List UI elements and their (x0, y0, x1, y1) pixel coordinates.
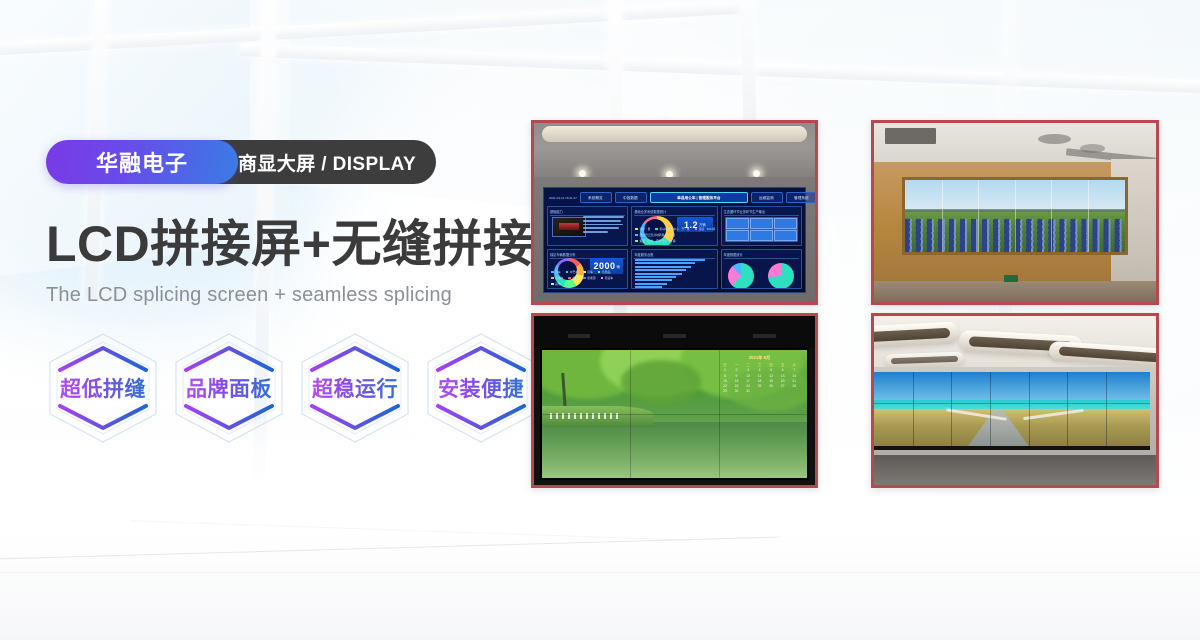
calendar-day: 21 (789, 379, 800, 383)
legend-item: 机动车服务中心 · 开 · 量 (655, 227, 689, 231)
bezel-seam (942, 180, 943, 253)
pie-chart (728, 263, 754, 289)
weekday: 三 (754, 363, 765, 367)
dashboard-panel-distribution: 辖区车辆数据分布 2000 辆 客车 中巴车 货车 危险品 专用车 (547, 249, 628, 289)
bar-chart (635, 259, 713, 286)
feature-label: 超低拼缝 (60, 373, 146, 403)
calendar-day: 3 (743, 368, 754, 372)
ceiling-vent (885, 128, 936, 144)
legend-item: 新增 · 量 (635, 227, 650, 231)
bezel-seam (913, 372, 914, 446)
calendar-grid: 日 一 二 三 四 五 六 1 2 3 4 5 6 7 8 (720, 363, 800, 394)
video-wall-screen: 2021年 8月 日 一 二 三 四 五 六 1 2 3 4 5 (540, 348, 810, 480)
weekday: 二 (743, 363, 754, 367)
legend-item: 挂车 (568, 276, 578, 280)
panel-title: 生态圈环节业务环节生产输出 (724, 209, 799, 216)
banner-stage: 商显大屏 / DISPLAY 华融电子 LCD拼接屏+无缝拼接 The LCD … (0, 0, 1200, 640)
bezel-seam (1067, 372, 1068, 446)
legend-item: 报废 · 回收 · 转移登记 110 辆 (635, 239, 675, 243)
bezel-seam (1051, 180, 1052, 253)
panel-legend: 客车 中巴车 货车 危险品 专用车 挂车 新能源 轿运车 其他 (551, 270, 627, 286)
feature-hex-3: 超稳运行 (296, 330, 414, 446)
calendar-day: 7 (789, 368, 800, 372)
brand-badge-label: 华融电子 (96, 146, 188, 178)
calendar-day: 25 (754, 384, 765, 388)
feature-hex-1: 超低拼缝 (44, 330, 162, 446)
dashboard-panel-ledger: 年度服务台账 (631, 249, 717, 289)
ceiling-light (753, 170, 760, 177)
foliage (621, 360, 701, 403)
legend-item: 运营 · 500 辆 (695, 227, 715, 231)
category-badge-label: 商显大屏 / DISPLAY (238, 149, 416, 176)
badge-row: 商显大屏 / DISPLAY 华融电子 (46, 140, 546, 184)
legend-item: 轿运车 (601, 276, 614, 280)
panel-title: 基础业务系统数据统计 (634, 209, 714, 216)
dashboard-tab[interactable]: 中投数据 (615, 192, 647, 203)
legend-item: 危险品 (598, 270, 611, 274)
panel-thumbnail (552, 217, 586, 236)
calendar-day: 13 (777, 374, 788, 378)
dashboard-tab[interactable]: 系统概览 (580, 192, 612, 203)
dashboard-screen: 2021-04-13 16:01:27 系统概览 中投数据 单县用公车 | 管理… (543, 187, 806, 293)
screen-label (753, 334, 775, 338)
page-title: LCD拼接屏+无缝拼接 (46, 218, 546, 270)
flow-diagram (725, 217, 798, 242)
calendar-day: 27 (777, 384, 788, 388)
dashboard-grid: 基础能力 基础业务系统数据统计 (547, 206, 802, 289)
legend-item: 部分登记及异地转移 1000 量 (635, 233, 675, 237)
dashboard-tab-label: 系统概览 (589, 195, 604, 201)
feature-label: 安装便捷 (438, 373, 524, 403)
bezel-seam (1029, 372, 1030, 446)
calendar-day: 30 (731, 389, 742, 393)
feature-label: 品牌面板 (186, 373, 272, 403)
dashboard-tab-label: 运维监测 (760, 195, 775, 201)
feature-hex-2: 品牌面板 (170, 330, 288, 446)
feature-label: 超稳运行 (312, 373, 398, 403)
calendar-day: 14 (789, 374, 800, 378)
screen-label (568, 334, 590, 338)
bezel-seam (874, 403, 1150, 404)
ceiling-cove (542, 126, 806, 142)
exit-sign-icon (1004, 275, 1018, 282)
headline-block: 商显大屏 / DISPLAY 华融电子 LCD拼接屏+无缝拼接 The LCD … (46, 140, 546, 307)
calendar-day: 22 (720, 384, 731, 388)
ceiling (534, 123, 815, 184)
calendar-day: 18 (754, 379, 765, 383)
legend-item: 新能源 (583, 276, 596, 280)
video-wall-screen (902, 177, 1128, 256)
calendar-day: 6 (777, 368, 788, 372)
dashboard-tab-label: 管理系统 (795, 195, 810, 201)
dashboard-tab[interactable]: 管理系统 (786, 192, 815, 203)
page-subtitle: The LCD splicing screen + seamless splic… (46, 284, 546, 307)
bezel-seam (542, 414, 808, 415)
legend-item: 中巴车 (566, 270, 579, 274)
calendar-day: 9 (731, 374, 742, 378)
photo-beach-boardwalk-video-wall (871, 313, 1159, 488)
photo-inner (874, 123, 1156, 302)
brand-badge: 华融电子 (46, 140, 238, 184)
pie-chart (768, 263, 794, 289)
video-wall-screen (874, 372, 1150, 450)
legend-item: 专用车 (551, 276, 564, 280)
calendar-day: 23 (731, 384, 742, 388)
feature-list: 超低拼缝 品牌面板 (44, 330, 540, 446)
calendar-day: 4 (754, 368, 765, 372)
legend-item: 货车 (583, 270, 593, 274)
calendar-day: 8 (720, 374, 731, 378)
calendar-day: 29 (720, 389, 731, 393)
dashboard-timestamp: 2021-04-13 16:01:27 (549, 196, 577, 200)
weekday: 一 (731, 363, 742, 367)
upper-bezel-row (534, 316, 815, 348)
panel-text-lines (583, 216, 624, 235)
calendar-day: 16 (731, 379, 742, 383)
photo-willow-lake-video-wall: 2021年 8月 日 一 二 三 四 五 六 1 2 3 4 5 (531, 313, 818, 488)
weekday: 四 (766, 363, 777, 367)
legend-item: 客车 (551, 270, 561, 274)
calendar-day: 26 (766, 384, 777, 388)
bezel-seam (1015, 180, 1016, 253)
calendar-day: 19 (766, 379, 777, 383)
weekday: 五 (777, 363, 788, 367)
dashboard-panel-capability: 基础能力 (547, 206, 628, 246)
photo-inner: 2021-04-13 16:01:27 系统概览 中投数据 单县用公车 | 管理… (534, 123, 815, 302)
dashboard-tab-label: 单县用公车 | 管理服务平台 (677, 195, 720, 201)
weekday: 六 (789, 363, 800, 367)
dashboard-tab-active[interactable]: 单县用公车 | 管理服务平台 (650, 192, 748, 203)
bezel-seam (990, 372, 991, 446)
sky (874, 372, 1150, 402)
bezel-seam (951, 372, 952, 446)
bezel-seam (1106, 372, 1107, 446)
dashboard-topbar: 2021-04-13 16:01:27 系统概览 中投数据 单县用公车 | 管理… (547, 191, 802, 204)
calendar-day: 12 (766, 374, 777, 378)
panel-title: 基础能力 (550, 209, 625, 216)
calendar-day: 1 (720, 368, 731, 372)
dashboard-tab[interactable]: 运维监测 (751, 192, 783, 203)
panel-title: 年度数据统计 (724, 252, 799, 259)
lake-water (542, 422, 808, 478)
calendar-day: 24 (743, 384, 754, 388)
calendar-day: 20 (777, 379, 788, 383)
floor (874, 281, 1156, 302)
floor-line-2 (0, 572, 1200, 573)
photo-inner (874, 316, 1156, 485)
bezel-seam (1088, 180, 1089, 253)
calendar-day: 17 (743, 379, 754, 383)
calendar-day: 5 (766, 368, 777, 372)
ceiling-light (579, 170, 586, 177)
calendar-day: 15 (720, 379, 731, 383)
bezel-seam (978, 180, 979, 253)
dashboard-tab-label: 中投数据 (624, 195, 639, 201)
panel-legend: 新增 · 量 机动车服务中心 · 开 · 量 运营 · 500 辆 部分登记及异… (635, 227, 716, 243)
calendar-title: 2021年 8月 (720, 355, 800, 361)
calendar-day: 28 (789, 384, 800, 388)
dashboard-panel-flow: 生态圈环节业务环节生产输出 (721, 206, 802, 246)
pie-chart-group (722, 263, 801, 289)
calendar-overlay: 2021年 8月 日 一 二 三 四 五 六 1 2 3 4 5 (720, 355, 800, 411)
photo-control-room-dashboard: 2021-04-13 16:01:27 系统概览 中投数据 单县用公车 | 管理… (531, 120, 818, 305)
panel-title: 年度服务台账 (634, 252, 714, 259)
kpi-unit: 辆 (617, 264, 620, 269)
screen-label (663, 334, 685, 338)
dashboard-panel-statistics: 基础业务系统数据统计 1.2 万辆 新增 · 量 机动车服务中心 · 开 · 量… (631, 206, 717, 246)
calendar-day: 11 (754, 374, 765, 378)
feature-hex-4: 安装便捷 (422, 330, 540, 446)
floor (874, 455, 1156, 485)
calendar-day: 31 (743, 389, 754, 393)
calendar-day: 2 (731, 368, 742, 372)
calendar-day: 10 (743, 374, 754, 378)
photo-inner: 2021年 8月 日 一 二 三 四 五 六 1 2 3 4 5 (534, 316, 815, 485)
weekday: 日 (720, 363, 731, 367)
legend-item: 其他 (551, 282, 561, 286)
dashboard-panel-annual: 年度数据统计 (721, 249, 802, 289)
photo-solar-farm-video-wall (871, 120, 1159, 305)
